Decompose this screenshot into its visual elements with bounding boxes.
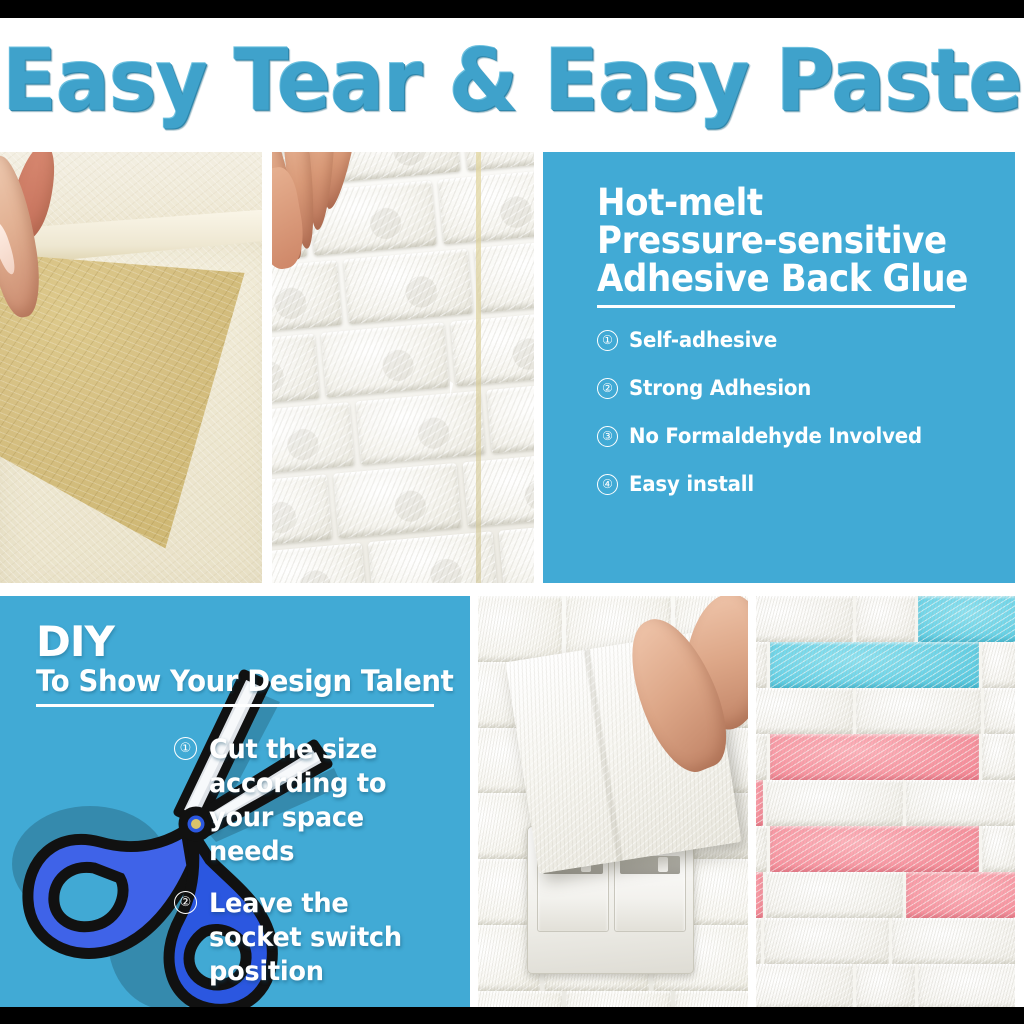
letterbox-bar-top bbox=[0, 0, 1024, 18]
list-item: ③ No Formaldehyde Involved bbox=[597, 424, 989, 448]
hand-holding-tile bbox=[635, 604, 748, 777]
diy-divider bbox=[36, 704, 434, 707]
diy-subtitle: To Show Your Design Talent bbox=[36, 664, 427, 698]
facts-list: ① Self-adhesive ② Strong Adhesion ③ No F… bbox=[597, 328, 989, 496]
hand-pressing bbox=[272, 152, 366, 264]
list-item: ② Leave the socket switch position bbox=[174, 887, 448, 989]
brick bbox=[438, 169, 534, 244]
number-badge: ② bbox=[174, 891, 197, 914]
list-item-label: Strong Adhesion bbox=[629, 376, 811, 400]
list-item: ② Strong Adhesion bbox=[597, 376, 989, 400]
brick-row bbox=[756, 642, 1015, 688]
brick-row bbox=[756, 688, 1015, 734]
brick-row bbox=[478, 991, 748, 1008]
list-item-label: Easy install bbox=[629, 472, 754, 496]
brick bbox=[486, 379, 534, 454]
adhesive-facts-panel: Hot-melt Pressure-sensitive Adhesive Bac… bbox=[543, 152, 1015, 583]
poster-root: Easy Tear & Easy Paste bbox=[0, 0, 1024, 1024]
photo-socket-cutout bbox=[478, 596, 748, 1007]
brick-row bbox=[756, 734, 1015, 780]
brick-row bbox=[756, 964, 1015, 1007]
list-item: ① Cut the size according to your space n… bbox=[174, 733, 448, 869]
list-item-label: No Formaldehyde Involved bbox=[629, 424, 922, 448]
brick bbox=[498, 520, 534, 583]
facts-title: Hot-melt Pressure-sensitive Adhesive Bac… bbox=[597, 184, 989, 298]
press-background bbox=[272, 152, 534, 583]
photo-colored-brick-wall bbox=[756, 596, 1015, 1007]
diy-kicker: DIY bbox=[36, 620, 448, 664]
brick bbox=[474, 237, 534, 312]
photo-peel-backing bbox=[0, 152, 262, 583]
page-title: Easy Tear & Easy Paste bbox=[2, 38, 1021, 124]
photo-press-panel bbox=[272, 152, 534, 583]
list-item: ① Self-adhesive bbox=[597, 328, 989, 352]
hand-peeling bbox=[0, 152, 71, 333]
rocker-indicator bbox=[658, 857, 668, 872]
list-item-label: Cut the size according to your space nee… bbox=[209, 733, 436, 869]
headline-banner: Easy Tear & Easy Paste bbox=[0, 18, 1024, 144]
list-item-label: Leave the socket switch position bbox=[209, 887, 436, 989]
brick-row bbox=[756, 918, 1015, 964]
number-badge: ③ bbox=[597, 426, 618, 447]
fingernail bbox=[0, 220, 19, 276]
brick-row bbox=[756, 826, 1015, 872]
infographic-canvas: Easy Tear & Easy Paste bbox=[0, 18, 1024, 1007]
list-item-label: Self-adhesive bbox=[629, 328, 777, 352]
list-item: ④ Easy install bbox=[597, 472, 989, 496]
letterbox-bar-bottom bbox=[0, 1007, 1024, 1024]
diy-steps-list: ① Cut the size according to your space n… bbox=[36, 733, 448, 1007]
panel-seam bbox=[476, 152, 481, 583]
brick bbox=[272, 543, 368, 583]
number-badge: ② bbox=[597, 378, 618, 399]
brick-row bbox=[756, 780, 1015, 826]
brick-row bbox=[756, 596, 1015, 642]
facts-divider bbox=[597, 305, 955, 308]
colored-wall-background bbox=[756, 596, 1015, 1007]
brick bbox=[461, 152, 534, 171]
socket-background bbox=[478, 596, 748, 1007]
diy-panel: DIY To Show Your Design Talent ① Cut the… bbox=[0, 596, 470, 1007]
number-badge: ④ bbox=[597, 474, 618, 495]
brick bbox=[451, 310, 534, 385]
number-badge: ① bbox=[597, 330, 618, 351]
brick-row bbox=[756, 872, 1015, 918]
number-badge: ① bbox=[174, 737, 197, 760]
brick bbox=[463, 452, 534, 527]
